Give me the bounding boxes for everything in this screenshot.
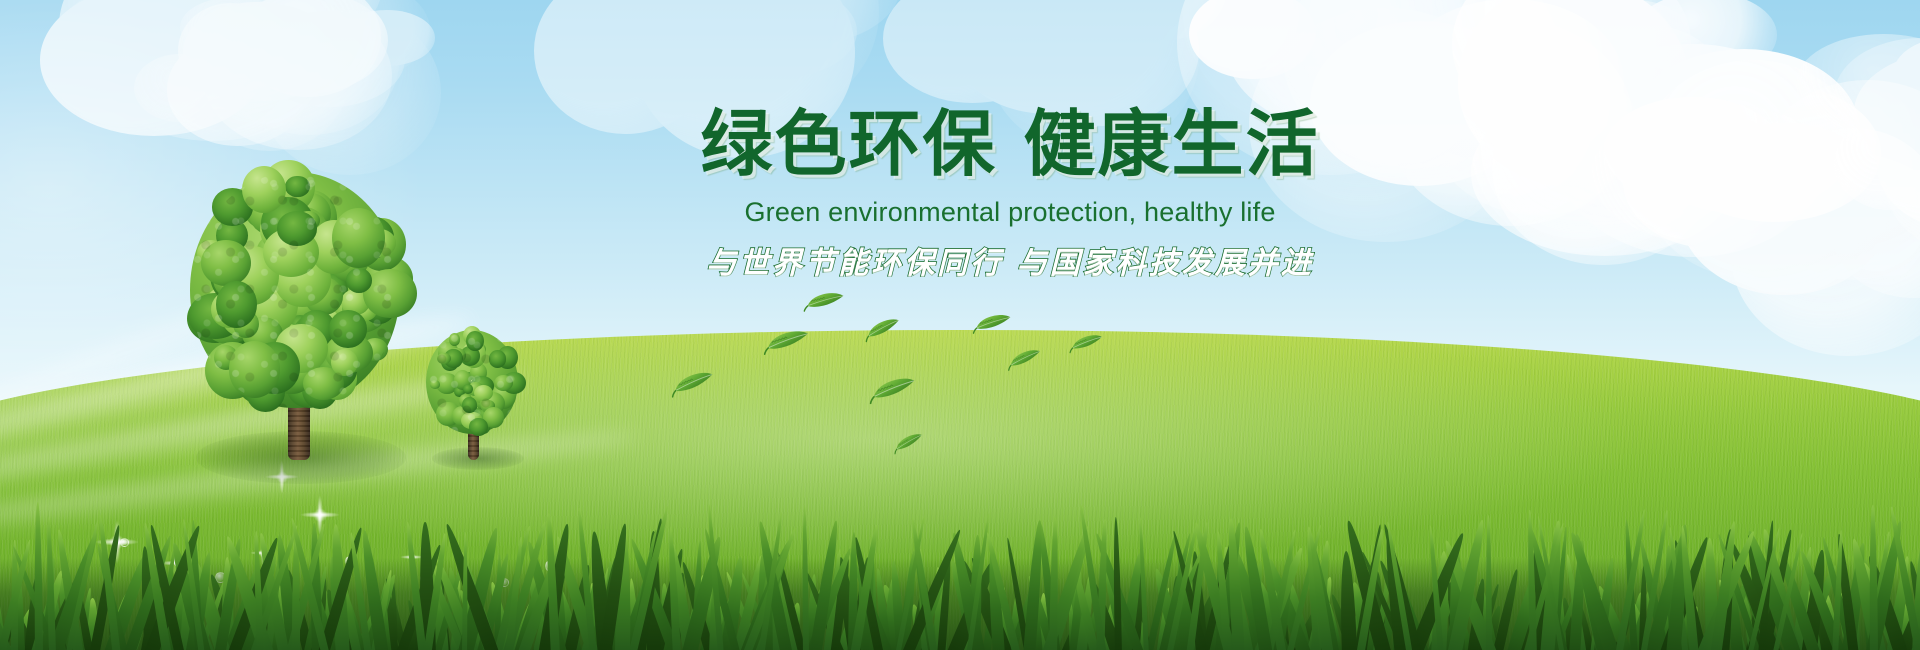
banner-headline: 绿色环保 健康生活 [630, 108, 1390, 181]
tree-canopy [426, 330, 518, 434]
grass-seed-blade [1869, 505, 1878, 650]
banner-subline: Green environmental protection, healthy … [630, 197, 1390, 228]
grass-seed-blade [34, 502, 43, 650]
canopy-leaf-texture [426, 330, 518, 434]
banner-text-block: 绿色环保 健康生活 Green environmental protection… [630, 108, 1390, 282]
grass-seed-blade [1485, 515, 1491, 650]
tall-grass-border [0, 500, 1920, 650]
hero-banner: 绿色环保 健康生活 Green environmental protection… [0, 0, 1920, 650]
grass-seed-blade [801, 505, 809, 650]
banner-tagline: 与世界节能环保同行 与国家科技发展并进 [630, 238, 1390, 282]
